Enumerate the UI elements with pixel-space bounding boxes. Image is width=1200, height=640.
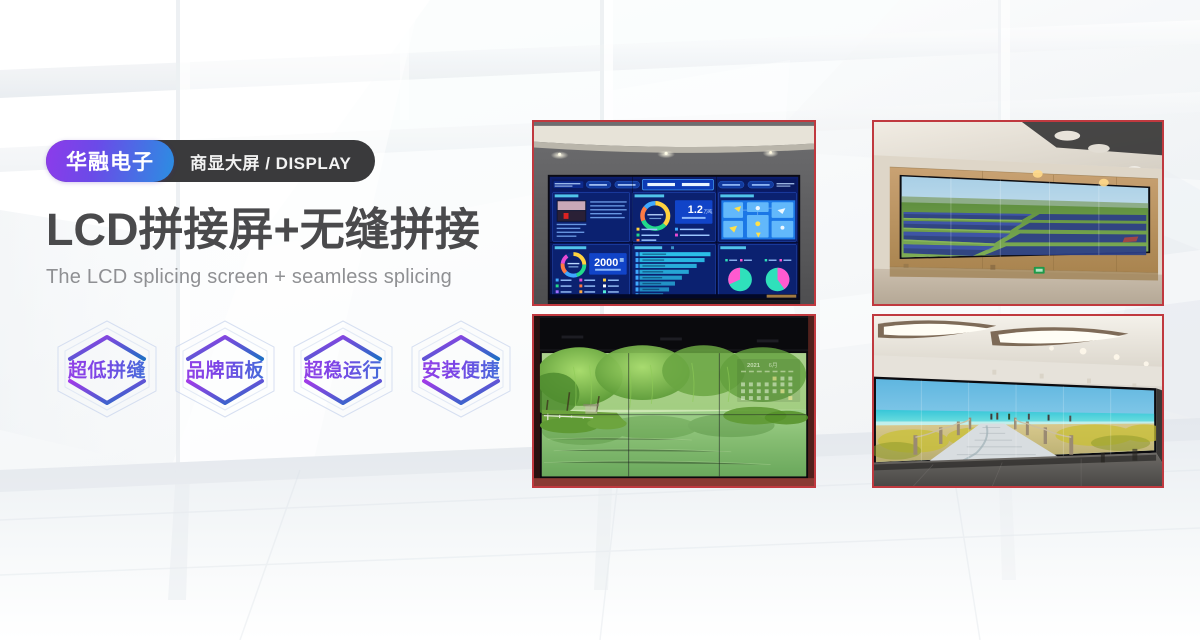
photo-solar-farm-video-wall [872,120,1164,306]
feature-label: 超低拼缝 [48,355,166,382]
dashboard-kpi-unit: 万吨 [704,208,713,215]
feature-label: 安装便捷 [402,355,520,382]
dashboard-count-value: 2000 [594,257,618,269]
feature-label: 超稳运行 [284,355,402,382]
promo-banner: 华融电子 商显大屏 / DISPLAY LCD拼接屏+无缝拼接 The LCD … [0,0,1200,640]
feature-item-2: 超稳运行 [284,315,402,423]
page-subtitle: The LCD splicing screen + seamless splic… [46,266,546,289]
photo-dashboard-video-wall: 1.2 万吨 [532,120,816,306]
photo-lake-scenery-video-wall: 2021 6月 [532,314,816,488]
brand-badge: 华融电子 商显大屏 / DISPLAY [46,140,375,182]
photo-beach-boardwalk-video-wall [872,314,1164,488]
brand-category: 商显大屏 / DISPLAY [174,140,357,182]
feature-item-0: 超低拼缝 [48,315,166,423]
svg-text:6月: 6月 [769,362,778,369]
feature-item-1: 品牌面板 [166,315,284,423]
left-content-column: 华融电子 商显大屏 / DISPLAY LCD拼接屏+无缝拼接 The LCD … [46,140,546,423]
calendar-widget: 2021 6月 [737,359,800,402]
brand-name: 华融电子 [46,140,174,182]
feature-label: 品牌面板 [166,355,284,382]
page-title: LCD拼接屏+无缝拼接 [46,206,546,254]
dashboard-kpi-value: 1.2 [688,204,703,216]
calendar-year: 2021 [747,363,761,369]
feature-list: 超低拼缝 品牌面板 [48,315,546,423]
feature-item-3: 安装便捷 [402,315,520,423]
